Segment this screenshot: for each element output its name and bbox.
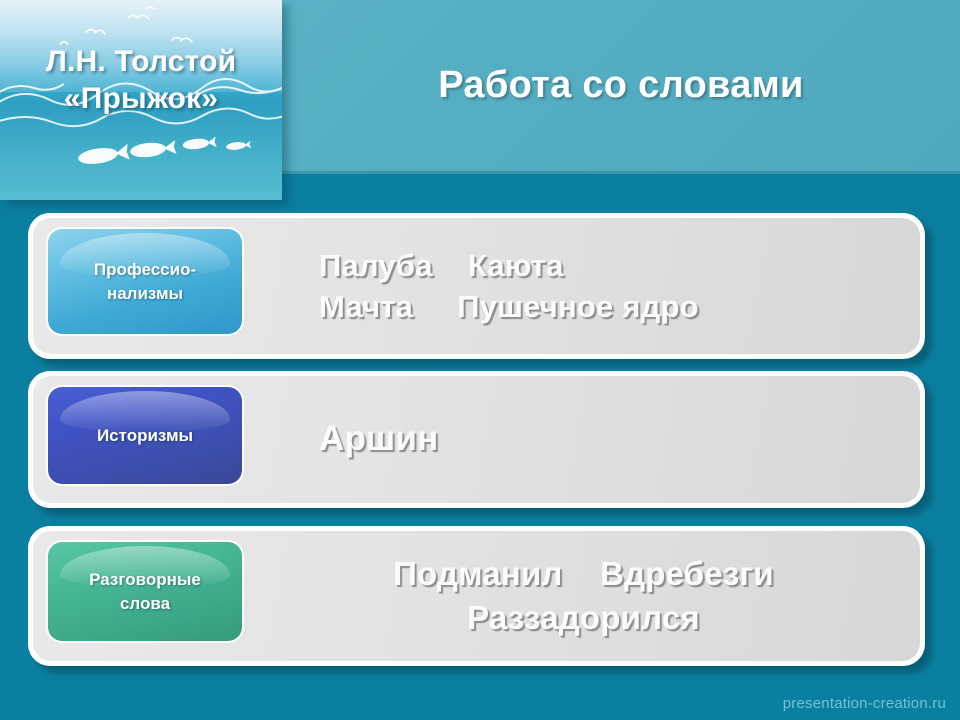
content-line: Аршин bbox=[263, 416, 904, 463]
row-label-chip-historicisms[interactable]: Историзмы bbox=[46, 385, 244, 486]
chip-label: Разговорные слова bbox=[83, 568, 207, 615]
content-line: Раззадорился bbox=[263, 596, 904, 640]
watermark: presentation-creation.ru bbox=[783, 695, 946, 712]
chip-label-line-1: Разговорные bbox=[89, 568, 201, 591]
chip-face: Разговорные слова bbox=[48, 542, 242, 641]
chip-label-line-1: Профессио- bbox=[94, 258, 196, 281]
row-historicisms: Историзмы Аршин bbox=[28, 371, 925, 508]
row-label-chip-colloquial-words[interactable]: Разговорные слова bbox=[46, 540, 244, 643]
row-content: Аршин bbox=[263, 376, 904, 503]
chip-label-line-1: Историзмы bbox=[97, 424, 193, 447]
row-panel: Профессио- нализмы Палуба Каюта Мачта Пу… bbox=[33, 218, 920, 354]
row-colloquial-words: Разговорные слова Подманил Вдребезги Раз… bbox=[28, 526, 925, 666]
chip-label-line-2: слова bbox=[89, 592, 201, 615]
content-line: Палуба Каюта bbox=[263, 245, 904, 286]
cover-title-line-1: Л.Н. Толстой bbox=[0, 44, 282, 81]
chip-label-line-2: нализмы bbox=[94, 282, 196, 305]
row-panel: Историзмы Аршин bbox=[33, 376, 920, 503]
chip-face: Профессио- нализмы bbox=[48, 229, 242, 334]
cover-title-line-2: «Прыжок» bbox=[0, 81, 282, 118]
content-line: Подманил Вдребезги bbox=[263, 552, 904, 596]
row-content: Палуба Каюта Мачта Пушечное ядро bbox=[263, 218, 904, 354]
slide: Работа со словами bbox=[0, 0, 960, 720]
content-line: Мачта Пушечное ядро bbox=[263, 286, 904, 327]
cover-title: Л.Н. Толстой «Прыжок» bbox=[0, 44, 282, 117]
row-content: Подманил Вдребезги Раззадорился bbox=[263, 531, 904, 661]
row-label-chip-professionalisms[interactable]: Профессио- нализмы bbox=[46, 227, 244, 336]
chip-label: Профессио- нализмы bbox=[88, 258, 202, 305]
chip-face: Историзмы bbox=[48, 387, 242, 484]
row-professionalisms: Профессио- нализмы Палуба Каюта Мачта Пу… bbox=[28, 213, 925, 359]
row-panel: Разговорные слова Подманил Вдребезги Раз… bbox=[33, 531, 920, 661]
chip-label: Историзмы bbox=[91, 424, 199, 447]
